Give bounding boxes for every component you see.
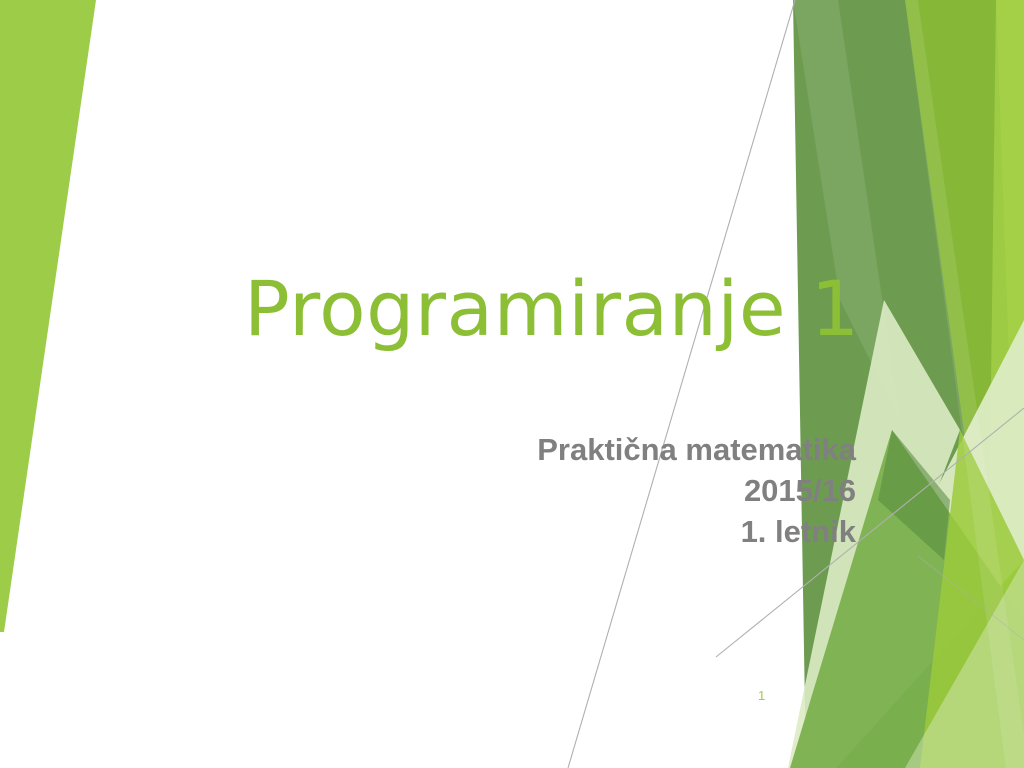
subtitle-line-grade: 1. letnik	[300, 512, 856, 553]
title-placeholder[interactable]: Programiranje 1	[120, 268, 780, 350]
subtitle-line-course: Praktična matematika	[300, 430, 856, 471]
subtitle-line-year: 2015/16	[300, 471, 856, 512]
slide-text-layer: Programiranje 1 Praktična matematika 201…	[0, 0, 1024, 768]
presentation-slide: Programiranje 1 Praktična matematika 201…	[0, 0, 1024, 768]
page-title: Programiranje 1	[120, 268, 780, 350]
slide-number: 1	[758, 688, 765, 703]
subtitle-placeholder[interactable]: Praktična matematika 2015/16 1. letnik	[300, 430, 856, 553]
